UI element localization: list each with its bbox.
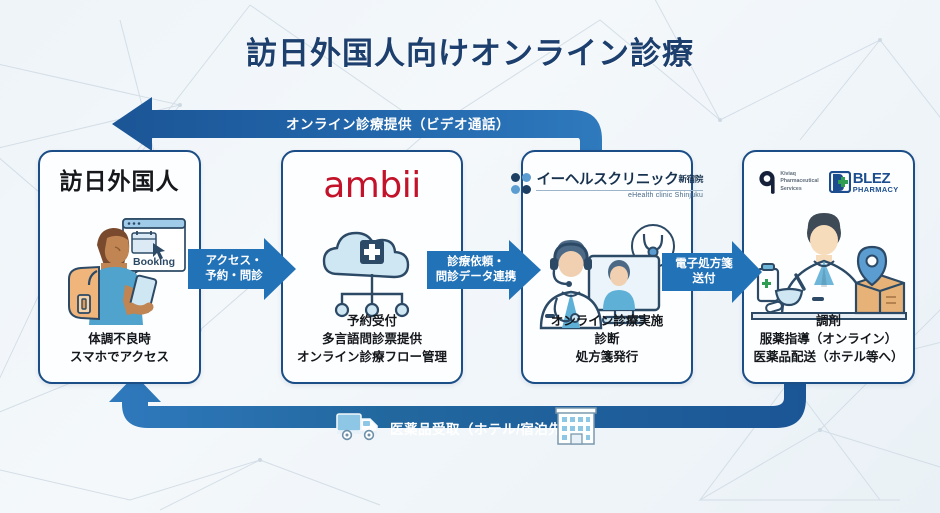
card-ambii-caption-line-3: オンライン診療フロー管理: [287, 348, 457, 366]
b-in-box-with-green-cross-icon: [829, 171, 851, 193]
arrow-access-booking: アクセス・ 予約・問診: [188, 238, 296, 300]
card-clinic-caption-line-1: オンライン診療実施: [527, 312, 687, 330]
kiviaq-line-2: Pharmaceutical: [780, 178, 818, 185]
kiviaq-line-3: Services: [780, 186, 818, 193]
kiviaq-logo: Kiviaq Pharmaceutical Services: [758, 170, 818, 194]
clinic-name-en: eHealth clinic Shinjuku: [536, 192, 703, 199]
card-traveler-art: Booking: [40, 214, 199, 334]
card-traveler-head: 訪日外国人: [40, 162, 199, 196]
card-ambii-head: ambii: [283, 162, 461, 204]
card-pharmacy-head: Kiviaq Pharmaceutical Services BLEZ PHAR…: [744, 162, 913, 194]
svg-text:Booking: Booking: [133, 256, 175, 268]
card-pharmacy-caption-line-1: 調剤: [748, 312, 909, 330]
card-traveler-heading: 訪日外国人: [40, 162, 199, 196]
arrow-eprescription: 電子処方箋 送付: [662, 241, 762, 303]
q-letter-icon: [758, 170, 777, 194]
arrow-consult-request: 診療依頼・ 問診データ連携: [427, 240, 541, 300]
cloud-with-medical-cross-network-icon: [312, 222, 432, 326]
delivery-truck-icon: [336, 408, 382, 442]
card-traveler-caption: 体調不良時 スマホでアクセス: [44, 330, 195, 366]
hotel-building-icon: [555, 404, 597, 446]
card-clinic-caption-line-2: 診断: [527, 330, 687, 348]
clinic-logo: イーヘルスクリニック新宿院 eHealth clinic Shinjuku: [523, 162, 691, 199]
clinic-name-suffix: 新宿院: [678, 174, 703, 184]
kiviaq-line-1: Kiviaq: [780, 171, 818, 178]
top-ribbon-label: オンライン診療提供（ビデオ通話）: [286, 113, 510, 133]
card-pharmacy[interactable]: Kiviaq Pharmaceutical Services BLEZ PHAR…: [742, 150, 915, 384]
traveler-with-smartphone-booking-illustration: Booking: [45, 215, 195, 333]
arrow-2-line-1: 診療依頼・: [447, 255, 505, 270]
ambii-wordmark: ambii: [283, 162, 461, 204]
blez-logo: BLEZ PHARMACY: [829, 171, 899, 193]
blez-main-text: BLEZ: [853, 171, 899, 186]
arrow-1-line-1: アクセス・: [206, 254, 263, 269]
card-pharmacy-caption-line-3: 医薬品配送（ホテル等へ）: [748, 348, 909, 366]
card-clinic-head: イーヘルスクリニック新宿院 eHealth clinic Shinjuku: [523, 162, 691, 199]
card-traveler-caption-line-2: スマホでアクセス: [44, 348, 195, 366]
card-pharmacy-caption: 調剤 服薬指導（オンライン） 医薬品配送（ホテル等へ）: [748, 312, 909, 366]
arrow-2-line-2: 問診データ連携: [436, 270, 517, 285]
page-title: 訪日外国人向けオンライン診療: [0, 28, 940, 73]
clinic-name-jp: イーヘルスクリニック: [536, 172, 678, 188]
card-pharmacy-caption-line-2: 服薬指導（オンライン）: [748, 330, 909, 348]
card-ambii-caption-line-2: 多言語問診票提供: [287, 330, 457, 348]
blez-sub-text: PHARMACY: [853, 186, 899, 193]
card-clinic-caption: オンライン診療実施 診断 処方箋発行: [527, 312, 687, 366]
clinic-logo-divider: [536, 190, 703, 191]
arrow-3-line-2: 送付: [693, 272, 716, 287]
arrow-3-line-1: 電子処方箋: [675, 257, 733, 272]
card-ambii-caption: 予約受付 多言語問診票提供 オンライン診療フロー管理: [287, 312, 457, 366]
card-traveler[interactable]: 訪日外国人 Booking: [38, 150, 201, 384]
card-ambii-caption-line-1: 予約受付: [287, 312, 457, 330]
card-traveler-caption-line-1: 体調不良時: [44, 330, 195, 348]
card-clinic-caption-line-3: 処方箋発行: [527, 348, 687, 366]
four-dots-2x2-icon: [511, 173, 532, 194]
bottom-ribbon-label: 医薬品受取（ホテル/宿泊先）: [390, 418, 576, 438]
arrow-1-line-2: 予約・問診: [205, 269, 263, 284]
pharmacy-logos: Kiviaq Pharmaceutical Services BLEZ PHAR…: [744, 162, 913, 194]
